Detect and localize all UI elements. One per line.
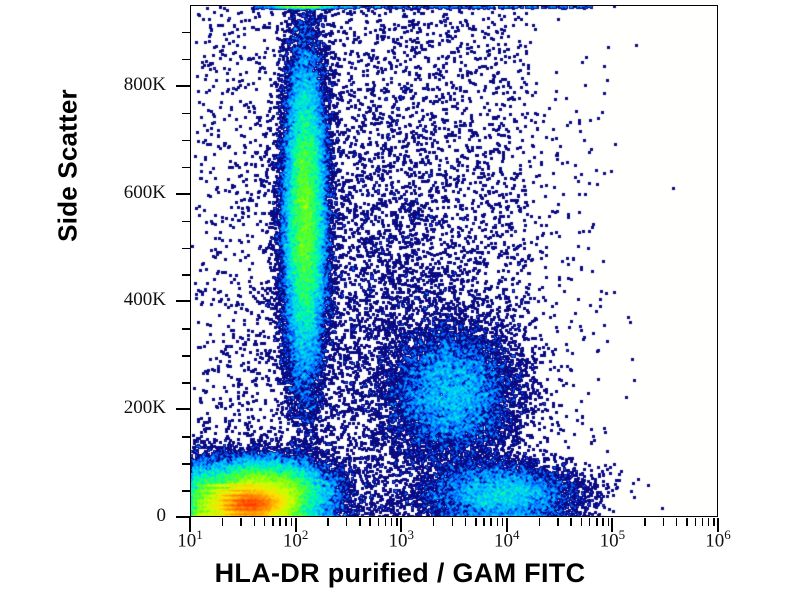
y-tick-minor [182, 248, 191, 250]
x-tick-minor [644, 518, 646, 526]
x-tick-minor [346, 518, 348, 526]
y-tick-label: 200K [124, 397, 166, 419]
y-tick-major [176, 408, 191, 410]
x-tick-label: 106 [705, 527, 731, 552]
y-tick-minor [182, 355, 191, 357]
x-tick-minor [557, 518, 559, 526]
x-tick-minor [240, 518, 242, 526]
x-tick-minor [465, 518, 467, 526]
x-tick-minor [452, 518, 454, 526]
y-tick-minor [182, 274, 191, 276]
y-tick-minor [182, 436, 191, 438]
x-axis-title: HLA-DR purified / GAM FITC [0, 558, 800, 589]
x-tick-label: 102 [283, 527, 309, 552]
x-tick-label: 104 [494, 527, 520, 552]
x-tick-minor [291, 518, 293, 526]
x-tick-minor [695, 518, 697, 526]
x-tick-minor [385, 518, 387, 526]
x-tick-minor [676, 518, 678, 526]
x-tick-minor [502, 518, 504, 526]
y-tick-minor [182, 490, 191, 492]
x-tick-minor [581, 518, 583, 526]
x-tick-minor [686, 518, 688, 526]
x-tick-minor [708, 518, 710, 526]
x-tick-minor [490, 518, 492, 526]
x-tick-minor [608, 518, 610, 526]
x-tick-label: 105 [600, 527, 626, 552]
x-tick-minor [369, 518, 371, 526]
y-tick-label: 400K [124, 289, 166, 311]
y-axis-title: Side Scatter [53, 56, 84, 276]
y-tick-major [176, 85, 191, 87]
x-tick-label: 101 [177, 527, 203, 552]
x-tick-minor [602, 518, 604, 526]
x-tick-minor [475, 518, 477, 526]
scatter-density-canvas [191, 6, 718, 517]
y-tick-minor [182, 221, 191, 223]
y-tick-label: 800K [124, 74, 166, 96]
y-tick-label: 0 [157, 505, 167, 527]
x-tick-minor [483, 518, 485, 526]
y-tick-minor [182, 113, 191, 115]
x-tick-minor [279, 518, 281, 526]
y-tick-major [176, 193, 191, 195]
x-tick-minor [285, 518, 287, 526]
x-tick-minor [272, 518, 274, 526]
x-tick-minor [663, 518, 665, 526]
x-tick-minor [396, 518, 398, 526]
x-tick-label: 103 [388, 527, 414, 552]
x-tick-minor [378, 518, 380, 526]
y-tick-label: 600K [124, 182, 166, 204]
y-tick-minor [182, 59, 191, 61]
x-tick-minor [570, 518, 572, 526]
x-tick-minor [596, 518, 598, 526]
y-tick-minor [182, 140, 191, 142]
x-tick-minor [222, 518, 224, 526]
y-tick-minor [182, 382, 191, 384]
x-tick-minor [539, 518, 541, 526]
y-tick-minor [182, 328, 191, 330]
x-tick-minor [497, 518, 499, 526]
y-tick-minor [182, 463, 191, 465]
x-tick-minor [359, 518, 361, 526]
x-tick-minor [702, 518, 704, 526]
y-tick-minor [182, 32, 191, 34]
plot-area [190, 5, 718, 517]
x-tick-minor [391, 518, 393, 526]
x-tick-minor [433, 518, 435, 526]
x-tick-minor [713, 518, 715, 526]
y-tick-major [176, 300, 191, 302]
x-tick-minor [254, 518, 256, 526]
y-tick-minor [182, 167, 191, 169]
x-tick-minor [327, 518, 329, 526]
x-tick-minor [589, 518, 591, 526]
x-tick-minor [264, 518, 266, 526]
flow-cytometry-plot: Side Scatter 0200K400K600K800K 101102103… [0, 0, 800, 600]
